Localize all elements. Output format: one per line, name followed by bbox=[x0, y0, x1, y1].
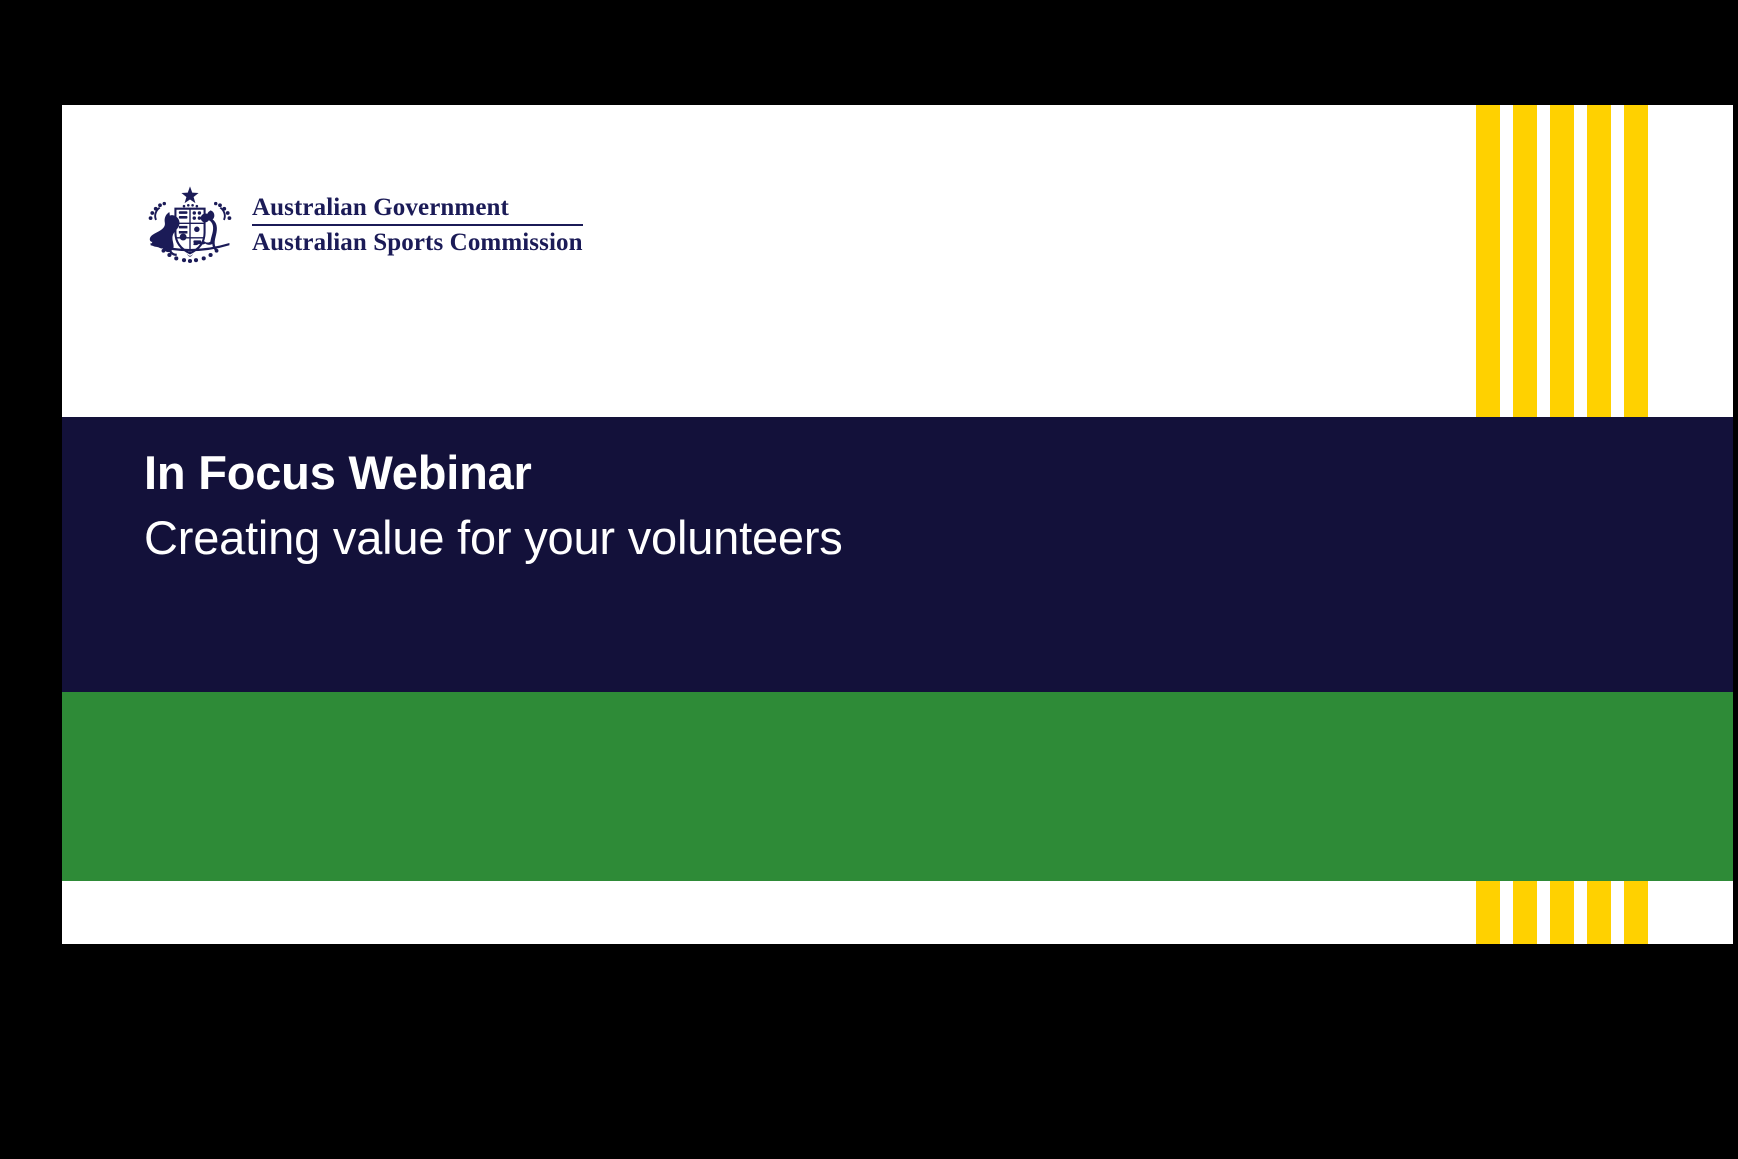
logo-wordmark: Australian Government Australian Sports … bbox=[252, 194, 583, 256]
stripe-2 bbox=[1513, 881, 1537, 944]
title-text-block: In Focus Webinar Creating value for your… bbox=[144, 445, 1444, 567]
decorative-stripes-bottom bbox=[1476, 881, 1648, 944]
stripe-1 bbox=[1476, 105, 1500, 417]
slide-title: In Focus Webinar bbox=[144, 445, 1444, 500]
slide-accent-band bbox=[62, 692, 1733, 881]
stripe-4 bbox=[1587, 881, 1611, 944]
slide-header-band: Australian Government Australian Sports … bbox=[62, 105, 1733, 417]
slide-title-band: In Focus Webinar Creating value for your… bbox=[62, 417, 1733, 692]
logo-line-government: Australian Government bbox=[252, 194, 583, 221]
stripe-5 bbox=[1624, 105, 1648, 417]
stripe-3 bbox=[1550, 881, 1574, 944]
slide-subtitle: Creating value for your volunteers bbox=[144, 510, 1444, 566]
stripe-2 bbox=[1513, 105, 1537, 417]
australian-government-logo: Australian Government Australian Sports … bbox=[138, 183, 583, 267]
decorative-stripes-top bbox=[1476, 105, 1648, 417]
stripe-4 bbox=[1587, 105, 1611, 417]
presentation-slide: Australian Government Australian Sports … bbox=[62, 105, 1733, 944]
stripe-5 bbox=[1624, 881, 1648, 944]
logo-line-agency: Australian Sports Commission bbox=[252, 229, 583, 256]
logo-divider bbox=[252, 224, 583, 226]
australian-coat-of-arms-icon bbox=[138, 183, 242, 267]
stripe-3 bbox=[1550, 105, 1574, 417]
stripe-1 bbox=[1476, 881, 1500, 944]
slide-footer-band bbox=[62, 881, 1733, 944]
